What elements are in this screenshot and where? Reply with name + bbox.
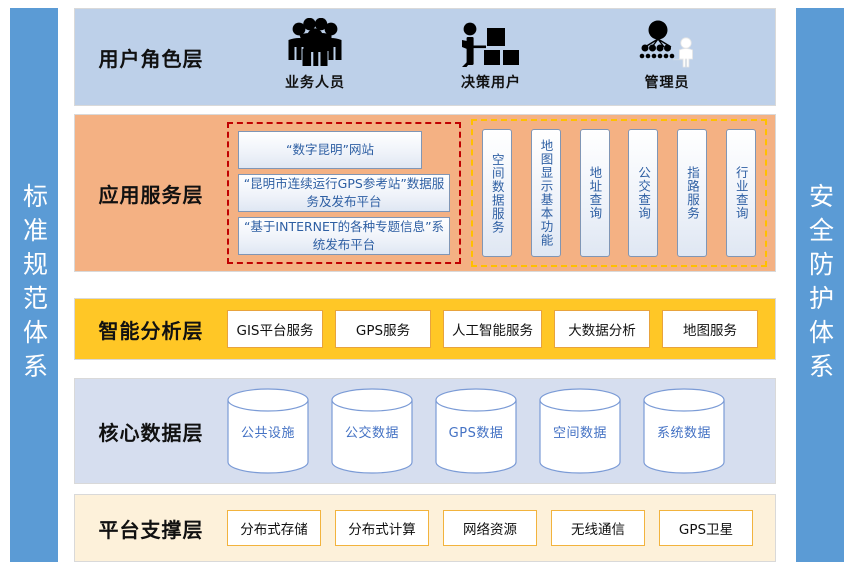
database-cylinder-bus-data[interactable]: 公交数据	[331, 388, 413, 474]
platform-box-digital-kunming[interactable]: “数字昆明”网站	[238, 131, 422, 169]
person-presenting-icon	[458, 16, 524, 68]
role-label: 业务人员	[285, 72, 345, 92]
platform-box-internet-thematic-info[interactable]: “基于INTERNET的各种专题信息”系统发布平台	[238, 217, 450, 255]
database-cylinder-public-facilities[interactable]: 公共设施	[227, 388, 309, 474]
service-box-label: 行业查询	[734, 166, 748, 220]
service-box-bus-query[interactable]: 公交查询	[628, 129, 658, 257]
left-vertical-bar-label: 标准规范体系	[22, 183, 47, 387]
support-box-gps-satellite[interactable]: GPS卫星	[659, 510, 753, 546]
publishing-platform-group: “数字昆明”网站 “昆明市连续运行GPS参考站”数据服务及发布平台 “基于INT…	[227, 122, 461, 264]
analysis-box-map-service[interactable]: 地图服务	[662, 310, 758, 348]
role-label: 决策用户	[461, 72, 521, 92]
architecture-diagram: 标准规范体系 安全防护体系 用户角色层	[0, 0, 854, 570]
role-item-administrator[interactable]: 管理员	[592, 16, 742, 92]
layer-user-role-body: 业务人员	[227, 9, 775, 105]
layer-intelligent-analysis-title: 智能分析层	[75, 315, 227, 344]
service-box-address-query[interactable]: 地址查询	[580, 129, 610, 257]
layer-core-data-title: 核心数据层	[75, 417, 227, 446]
service-box-label: 空间数据服务	[490, 153, 504, 234]
role-label: 管理员	[645, 72, 690, 92]
cylinder-label: 空间数据	[539, 388, 621, 474]
support-box-wireless-communication[interactable]: 无线通信	[551, 510, 645, 546]
layer-stack: 用户角色层	[74, 8, 776, 562]
cylinder-label: GPS数据	[435, 388, 517, 474]
platform-box-gps-reference-station[interactable]: “昆明市连续运行GPS参考站”数据服务及发布平台	[238, 174, 450, 212]
role-item-business-staff[interactable]: 业务人员	[240, 16, 390, 92]
layer-platform-support-body: 分布式存储 分布式计算 网络资源 无线通信 GPS卫星	[227, 495, 775, 561]
cylinder-label: 系统数据	[643, 388, 725, 474]
service-box-label: 指路服务	[685, 166, 699, 220]
org-chart-person-icon	[634, 16, 700, 68]
service-box-industry-query[interactable]: 行业查询	[726, 129, 756, 257]
right-vertical-bar-label: 安全防护体系	[808, 183, 833, 387]
cylinder-label: 公共设施	[227, 388, 309, 474]
cylinder-label: 公交数据	[331, 388, 413, 474]
service-box-route-guidance[interactable]: 指路服务	[677, 129, 707, 257]
group-of-people-icon	[281, 16, 349, 68]
layer-intelligent-analysis: 智能分析层 GIS平台服务 GPS服务 人工智能服务 大数据分析 地图服务	[74, 298, 776, 360]
layer-platform-support: 平台支撑层 分布式存储 分布式计算 网络资源 无线通信 GPS卫星	[74, 494, 776, 562]
layer-application-service-title: 应用服务层	[75, 179, 227, 208]
service-box-spatial-data[interactable]: 空间数据服务	[482, 129, 512, 257]
analysis-box-gps-service[interactable]: GPS服务	[335, 310, 431, 348]
layer-core-data-body: 公共设施 公交数据 GPS数据	[227, 379, 775, 483]
role-list: 业务人员	[227, 16, 775, 98]
database-cylinder-system-data[interactable]: 系统数据	[643, 388, 725, 474]
service-box-label: 公交查询	[637, 166, 651, 220]
layer-user-role: 用户角色层	[74, 8, 776, 106]
right-vertical-bar-security: 安全防护体系	[796, 8, 844, 562]
support-box-distributed-storage[interactable]: 分布式存储	[227, 510, 321, 546]
support-box-distributed-computing[interactable]: 分布式计算	[335, 510, 429, 546]
database-cylinder-gps-data[interactable]: GPS数据	[435, 388, 517, 474]
role-item-decision-user[interactable]: 决策用户	[416, 16, 566, 92]
support-box-network-resources[interactable]: 网络资源	[443, 510, 537, 546]
layer-core-data: 核心数据层 公共设施 公交数据	[74, 378, 776, 484]
service-box-map-display[interactable]: 地图显示基本功能	[531, 129, 561, 257]
service-function-group: 空间数据服务 地图显示基本功能 地址查询 公交查询 指路服务 行业查询	[471, 119, 767, 267]
layer-platform-support-title: 平台支撑层	[75, 514, 227, 543]
analysis-box-ai-service[interactable]: 人工智能服务	[443, 310, 542, 348]
layer-application-service-body: “数字昆明”网站 “昆明市连续运行GPS参考站”数据服务及发布平台 “基于INT…	[227, 115, 775, 271]
service-box-label: 地图显示基本功能	[539, 139, 553, 247]
layer-user-role-title: 用户角色层	[75, 43, 227, 72]
database-cylinder-spatial-data[interactable]: 空间数据	[539, 388, 621, 474]
layer-intelligent-analysis-body: GIS平台服务 GPS服务 人工智能服务 大数据分析 地图服务	[227, 299, 775, 359]
analysis-box-big-data-analysis[interactable]: 大数据分析	[554, 310, 650, 348]
service-box-label: 地址查询	[588, 166, 602, 220]
left-vertical-bar-standards: 标准规范体系	[10, 8, 58, 562]
analysis-box-gis-platform-service[interactable]: GIS平台服务	[227, 310, 323, 348]
layer-application-service: 应用服务层 “数字昆明”网站 “昆明市连续运行GPS参考站”数据服务及发布平台 …	[74, 114, 776, 272]
